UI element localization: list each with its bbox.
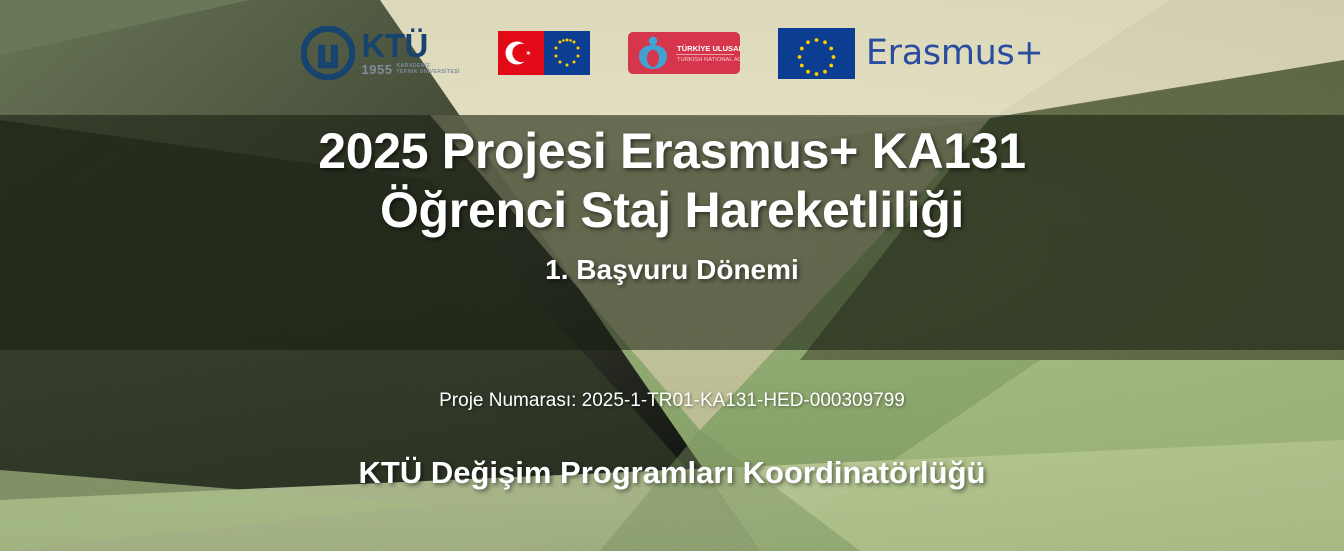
erasmus-wordmark: Erasmus+ — [866, 33, 1044, 73]
logo-row: KTÜ 1955 KARADENİZ TEKNİK ÜNİVERSİTESİ — [0, 22, 1344, 84]
turkish-national-agency-logo: TÜRKİYE ULUSAL AJANSI TURKISH NATIONAL A… — [628, 32, 740, 74]
erasmus-banner: KTÜ 1955 KARADENİZ TEKNİK ÜNİVERSİTESİ — [0, 0, 1344, 551]
ktu-emblem-icon — [301, 26, 355, 80]
eu-flag-icon — [778, 28, 855, 79]
title-line-1: 2025 Projesi Erasmus+ KA131 — [0, 122, 1344, 181]
ktu-university-name: KARADENİZ TEKNİK ÜNİVERSİTESİ — [396, 63, 459, 76]
title-line-3: 1. Başvuru Dönemi — [0, 254, 1344, 286]
ktu-wordmark: KTÜ 1955 KARADENİZ TEKNİK ÜNİVERSİTESİ — [362, 30, 460, 75]
tna-line-2: TURKISH NATIONAL AGENCY — [677, 57, 740, 63]
tna-line-1: TÜRKİYE ULUSAL AJANSI — [677, 44, 740, 53]
project-number: Proje Numarası: 2025-1-TR01-KA131-HED-00… — [0, 390, 1344, 412]
turkey-eu-flag-logo — [498, 31, 590, 75]
title-line-2: Öğrenci Staj Hareketliliği — [0, 181, 1344, 240]
ktu-word: KTÜ — [362, 30, 460, 61]
erasmus-plus-logo: Erasmus+ — [778, 28, 1044, 79]
title-block: 2025 Projesi Erasmus+ KA131 Öğrenci Staj… — [0, 122, 1344, 286]
ktu-logo: KTÜ 1955 KARADENİZ TEKNİK ÜNİVERSİTESİ — [301, 26, 460, 80]
footer-organisation: KTÜ Değişim Programları Koordinatörlüğü — [0, 455, 1344, 491]
ktu-founding-year: 1955 — [362, 63, 393, 76]
